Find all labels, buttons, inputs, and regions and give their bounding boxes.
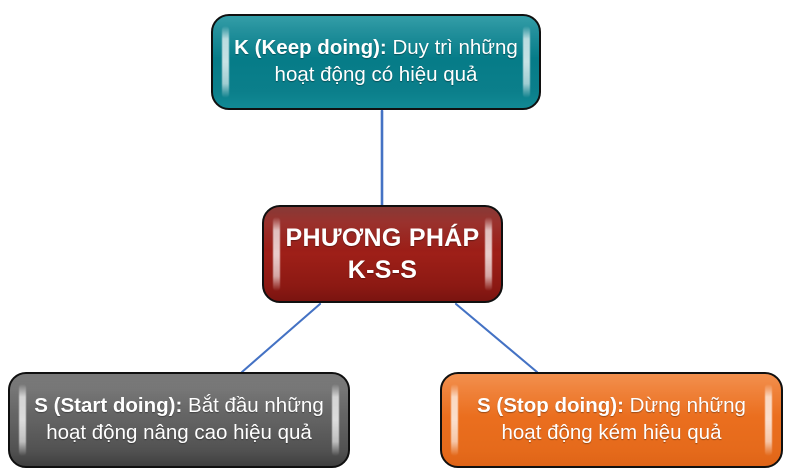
node-center-method[interactable]: PHƯƠNG PHÁPK-S-S: [262, 205, 503, 303]
diagram-canvas: K (Keep doing): Duy trì những hoạt động …: [0, 0, 791, 476]
connector-center-to-start: [242, 304, 320, 372]
node-keep-doing-label-bold: K (Keep doing):: [234, 36, 387, 59]
node-stop-doing-label-bold: S (Stop doing):: [477, 394, 624, 417]
node-center-method-line1: PHƯƠNG PHÁP: [286, 224, 480, 252]
node-stop-doing-label: S (Stop doing): Dừng những hoạt động kém…: [442, 393, 781, 446]
node-start-doing-label: S (Start doing): Bắt đầu những hoạt động…: [10, 393, 348, 446]
node-start-doing-label-bold: S (Start doing):: [34, 394, 182, 417]
node-stop-doing[interactable]: S (Stop doing): Dừng những hoạt động kém…: [440, 372, 783, 468]
node-center-method-label: PHƯƠNG PHÁPK-S-S: [264, 222, 501, 287]
node-center-method-line2: K-S-S: [348, 256, 418, 284]
node-start-doing[interactable]: S (Start doing): Bắt đầu những hoạt động…: [8, 372, 350, 468]
node-keep-doing[interactable]: K (Keep doing): Duy trì những hoạt động …: [211, 14, 541, 110]
connector-center-to-stop: [456, 304, 537, 372]
node-keep-doing-label: K (Keep doing): Duy trì những hoạt động …: [213, 35, 539, 88]
